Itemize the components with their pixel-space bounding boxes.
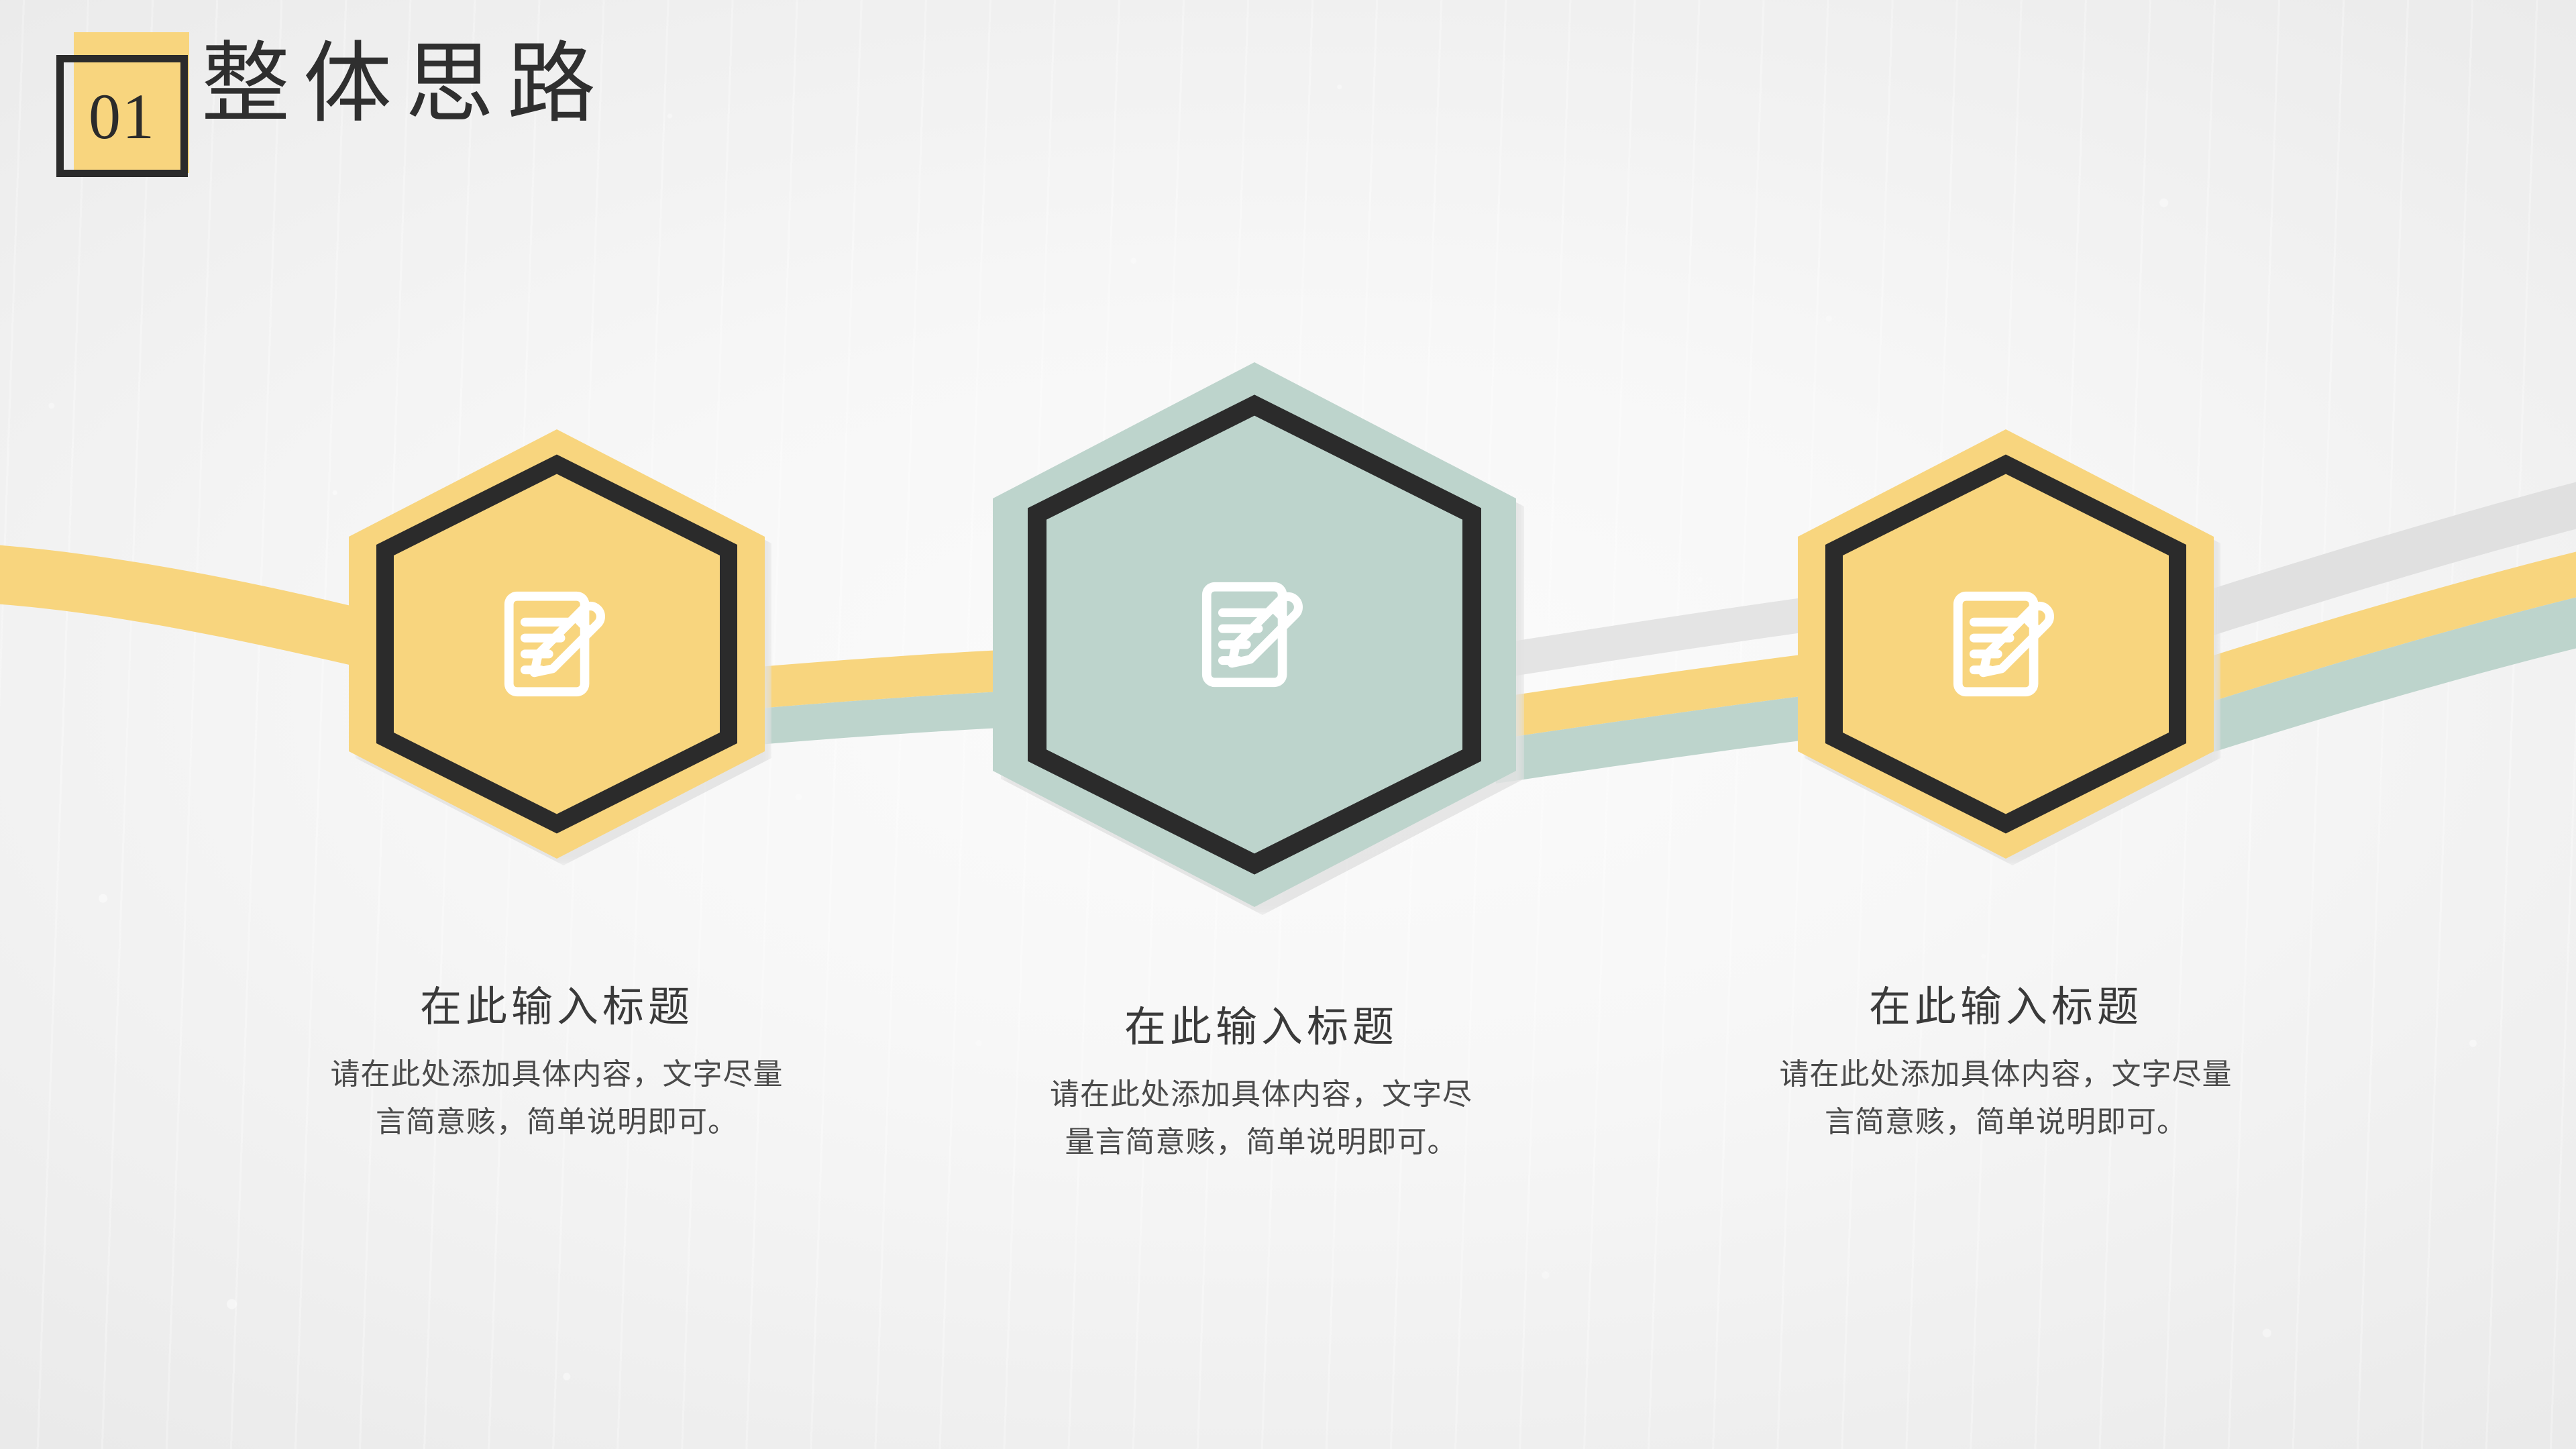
item-title-3: 在此输入标题 bbox=[1758, 973, 2254, 1033]
item-body-2: 请在此处添加具体内容，文字尽量言简意赅，简单说明即可。 bbox=[1026, 1071, 1496, 1167]
item-text-block-1: 在此输入标题 请在此处添加具体内容，文字尽量言简意赅，简单说明即可。 bbox=[309, 973, 805, 1146]
document-pencil-icon bbox=[1191, 571, 1318, 698]
item-text-block-3: 在此输入标题 请在此处添加具体内容，文字尽量言简意赅，简单说明即可。 bbox=[1758, 973, 2254, 1146]
ribbon-yellow-left bbox=[0, 545, 376, 671]
item-title-1: 在此输入标题 bbox=[309, 973, 805, 1033]
hexagon-node-2[interactable] bbox=[993, 362, 1516, 907]
hexagon-node-1[interactable] bbox=[349, 429, 765, 859]
document-pencil-icon bbox=[493, 580, 621, 708]
item-body-3: 请在此处添加具体内容，文字尽量言简意赅，简单说明即可。 bbox=[1758, 1051, 2254, 1146]
item-title-2: 在此输入标题 bbox=[1026, 993, 1496, 1053]
document-pencil-icon bbox=[1942, 580, 2070, 708]
item-text-block-2: 在此输入标题 请在此处添加具体内容，文字尽量言简意赅，简单说明即可。 bbox=[1026, 993, 1496, 1167]
badge-number-label: 01 bbox=[56, 55, 188, 177]
hexagon-node-3[interactable] bbox=[1798, 429, 2214, 859]
item-body-1: 请在此处添加具体内容，文字尽量言简意赅，简单说明即可。 bbox=[309, 1051, 805, 1146]
slide-header: 01 整体思路 bbox=[0, 0, 2576, 201]
page-title: 整体思路 bbox=[201, 28, 609, 142]
section-number-badge: 01 bbox=[56, 32, 197, 173]
